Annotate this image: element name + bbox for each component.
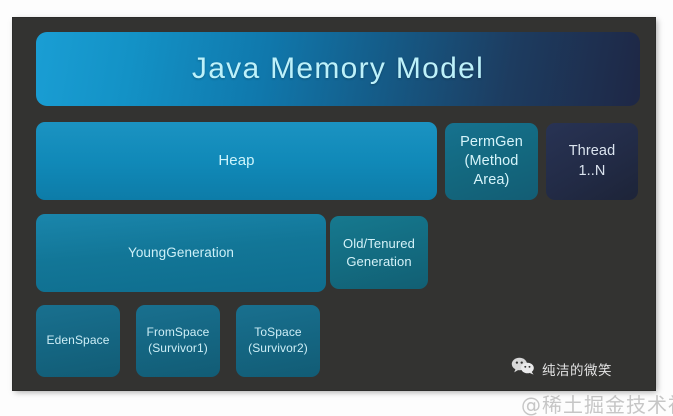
block-old-generation-label: Old/Tenured Generation xyxy=(343,235,415,269)
block-thread-label: Thread 1..N xyxy=(569,142,616,180)
diagram-title: Java Memory Model xyxy=(192,49,484,89)
diagram-title-block: Java Memory Model xyxy=(36,32,640,106)
block-permgen-label: PermGen (Method Area) xyxy=(460,133,523,190)
block-heap-label: Heap xyxy=(218,151,254,171)
block-to-space: ToSpace (Survivor2) xyxy=(236,305,320,377)
block-thread: Thread 1..N xyxy=(546,123,638,200)
block-young-generation: YoungGeneration xyxy=(36,214,326,292)
block-eden-space-label: EdenSpace xyxy=(47,333,110,349)
block-permgen: PermGen (Method Area) xyxy=(445,123,538,200)
block-old-generation: Old/Tenured Generation xyxy=(330,216,428,289)
block-from-space-label: FromSpace (Survivor1) xyxy=(147,325,210,357)
diagram-canvas: Java Memory Model Heap PermGen (Method A… xyxy=(0,0,673,416)
author-name: 纯洁的微笑 xyxy=(542,359,612,379)
block-young-generation-label: YoungGeneration xyxy=(128,244,234,262)
java-memory-model-panel: Java Memory Model Heap PermGen (Method A… xyxy=(13,18,655,390)
author-credit: 纯洁的微笑 xyxy=(511,357,612,380)
block-heap: Heap xyxy=(36,122,437,200)
site-watermark: @稀土掘金技术社区 xyxy=(521,389,673,416)
wechat-icon xyxy=(511,357,535,380)
block-eden-space: EdenSpace xyxy=(36,305,120,377)
block-from-space: FromSpace (Survivor1) xyxy=(136,305,220,377)
block-to-space-label: ToSpace (Survivor2) xyxy=(248,325,308,357)
